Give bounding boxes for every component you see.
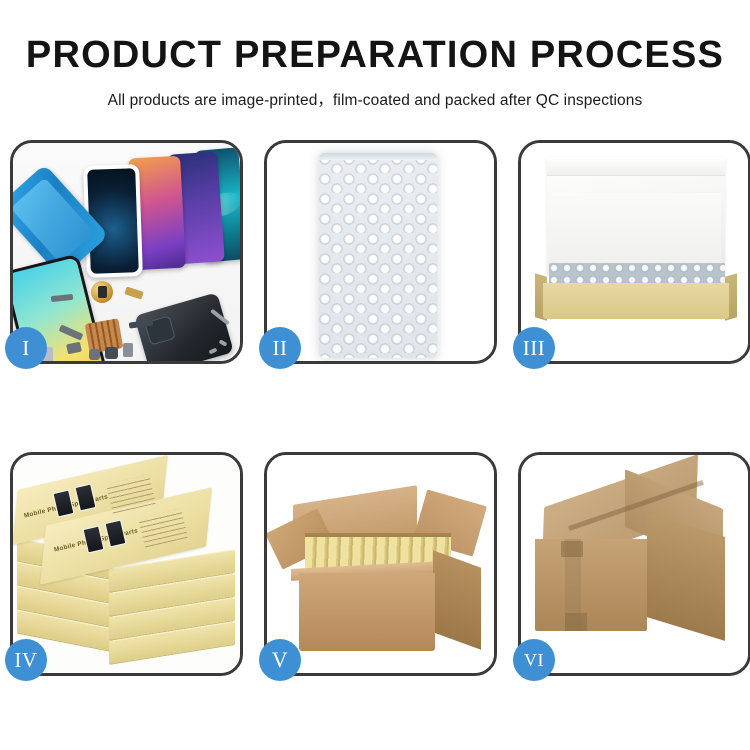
phone-back-housing [134,292,234,361]
step-card-4: Mobile Phone Spare Parts Mobile Phone Sp… [10,452,243,676]
step-image-5 [267,455,494,673]
header: PRODUCT PREPARATION PROCESS All products… [0,0,750,110]
step-badge-3: III [513,327,555,369]
pouch-seal [319,153,437,160]
foam-insert [551,193,721,265]
step-card-1: I [10,140,243,364]
step-image-2 [267,143,494,361]
step-card-5: V [264,452,497,676]
step-badge-4: IV [5,639,47,681]
step-badge-1: I [5,327,47,369]
page-subtitle: All products are image-printed，film-coat… [0,88,750,110]
spare-part [105,347,118,359]
step-image-4: Mobile Phone Spare Parts Mobile Phone Sp… [13,455,240,673]
bubble-wrap-pouch [319,153,437,358]
step-image-6 [521,455,748,673]
carton-front [299,573,435,651]
step-card-6: VI [518,452,750,676]
page-title: PRODUCT PREPARATION PROCESS [0,36,750,74]
steps-grid: I II III [10,140,740,680]
step-badge-6: VI [513,639,555,681]
step-image-1 [13,143,240,361]
camera-module-part [91,281,113,303]
sealed-carton-front [535,539,647,631]
spare-part [124,286,144,299]
step-card-3: III [518,140,750,364]
step-image-3 [521,143,748,361]
carton-side-right [433,550,481,649]
bubble-pattern [319,153,437,358]
carton-handle-tab-bottom [565,613,587,631]
carton-handle-tab-top [561,541,583,557]
retail-box-stack: Mobile Phone Spare Parts Mobile Phone Sp… [13,455,240,673]
step-badge-2: II [259,327,301,369]
spare-part [89,349,100,360]
step-badge-5: V [259,639,301,681]
product-preparation-infographic: PRODUCT PREPARATION PROCESS All products… [0,0,750,750]
mailer-box-front [543,283,729,319]
step-card-2: II [264,140,497,364]
spare-part [123,343,133,357]
